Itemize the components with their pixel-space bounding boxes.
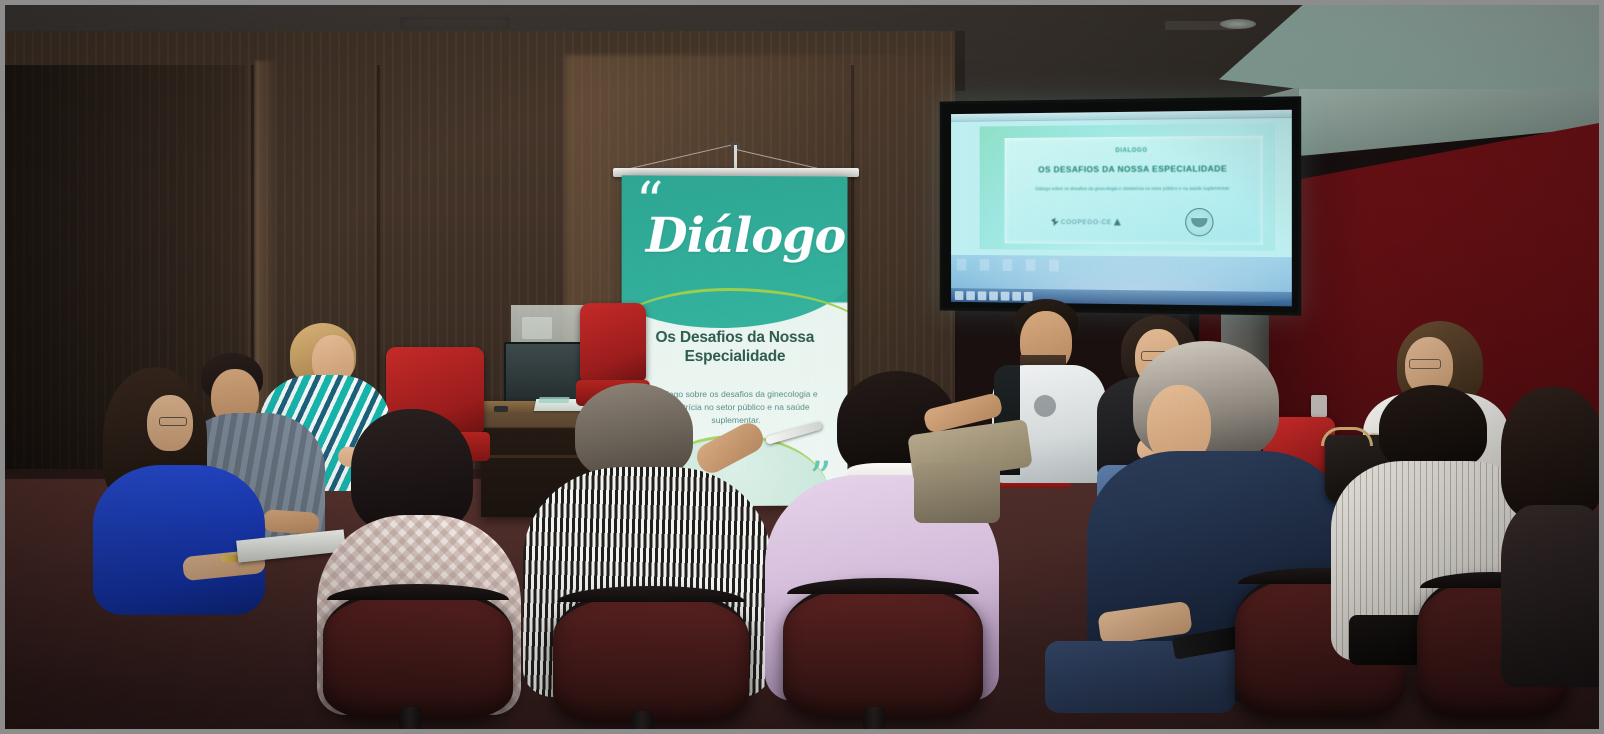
presentation-slide: DIÁLOGO OS DESAFIOS DA NOSSA ESPECIALIDA… [980,123,1276,251]
office-chair [783,581,983,713]
secondary-seal-logo [1185,208,1213,236]
banner-logo-text: Diálogo [646,208,826,265]
torso [1501,505,1599,687]
meeting-room-scene: DIÁLOGO OS DESAFIOS DA NOSSA ESPECIALIDA… [5,5,1599,729]
chair-back [553,589,749,723]
arm-raised [692,418,768,477]
slide-subtitle: OS DESAFIOS DA NOSSA ESPECIALIDADE [1005,163,1263,174]
chair-rim [557,586,745,602]
hair [1501,387,1599,519]
glasses-icon [1409,359,1441,369]
coopego-logo: COOPEGO-CE [1051,218,1121,226]
office-chair [553,589,749,717]
slide-title: DIÁLOGO [1005,147,1263,155]
person-woman-blue-top [93,367,268,627]
slide-body-text: Diálogo sobre os desafios da ginecologia… [1020,185,1246,193]
chair-rim [787,578,979,594]
coopego-logo-text: COOPEGO-CE [1061,218,1112,225]
chair-back [580,303,646,381]
bird-icon [1051,218,1059,226]
office-chair [323,587,513,713]
desktop-icon [1049,260,1059,272]
banner-title-line2: Especialidade [685,348,786,365]
banner-title: Os Desafios da Nossa Especialidade [632,328,838,367]
glasses-icon [159,417,187,426]
projection-screen: DIÁLOGO OS DESAFIOS DA NOSSA ESPECIALIDA… [940,96,1302,315]
projected-window-titlebar [951,110,1292,122]
banner-title-line1: Os Desafios da Nossa [655,329,814,346]
desktop-icons [957,259,1059,272]
chair-lever [631,711,653,729]
chair-back [323,587,513,719]
hair [575,383,693,479]
ceiling-vent-icon [400,17,510,29]
projected-image: DIÁLOGO OS DESAFIOS DA NOSSA ESPECIALIDA… [951,110,1292,307]
chair-rim [327,584,509,600]
photo-frame: DIÁLOGO OS DESAFIOS DA NOSSA ESPECIALIDA… [0,0,1604,734]
arm [262,509,319,535]
slide-card: DIÁLOGO OS DESAFIOS DA NOSSA ESPECIALIDA… [1005,136,1263,245]
chair-lever [863,707,885,729]
desktop-icon [980,259,990,271]
slide-logo-row: COOPEGO-CE [1005,208,1263,237]
chair-lever [399,707,421,729]
hair [1379,385,1487,471]
ceiling-light-icon [1220,19,1256,29]
desktop-icon [1003,259,1013,271]
chair-back [783,581,983,719]
triangle-icon [1114,218,1121,225]
leg [914,463,1000,523]
desktop-icon [957,259,967,271]
person-right-edge [1501,387,1599,687]
desktop-icon [1026,259,1036,271]
